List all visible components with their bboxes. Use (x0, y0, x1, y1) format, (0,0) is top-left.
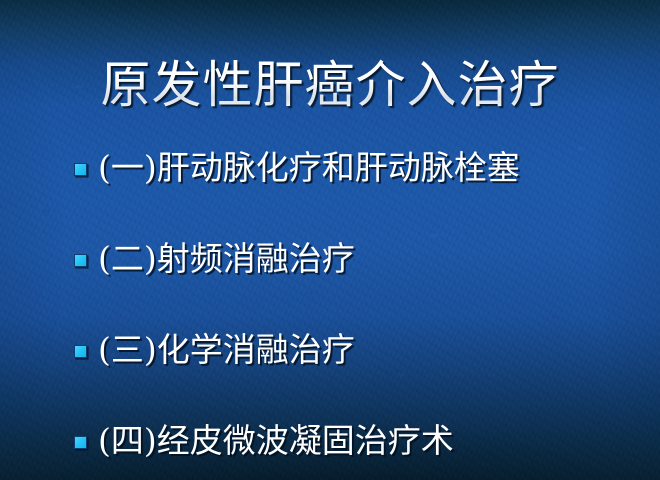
list-item[interactable]: (二)射频消融治疗 (74, 239, 640, 330)
slide-title-container: 原发性肝癌介入治疗 (0, 56, 660, 114)
list-item-label: (一)肝动脉化疗和肝动脉栓塞 (98, 148, 520, 188)
square-bullet-icon (74, 163, 87, 176)
list-item-label: (二)射频消融治疗 (98, 239, 355, 279)
list-item-label: (四)经皮微波凝固治疗术 (98, 421, 454, 461)
list-item[interactable]: (一)肝动脉化疗和肝动脉栓塞 (74, 148, 640, 239)
list-item[interactable]: (四)经皮微波凝固治疗术 (74, 421, 640, 480)
list-item-label: (三)化学消融治疗 (98, 330, 355, 370)
slide-bullet-list: (一)肝动脉化疗和肝动脉栓塞 (二)射频消融治疗 (三)化学消融治疗 (四)经皮… (74, 148, 640, 480)
square-bullet-icon (74, 345, 87, 358)
slide-title: 原发性肝癌介入治疗 (101, 56, 560, 114)
list-item[interactable]: (三)化学消融治疗 (74, 330, 640, 421)
square-bullet-icon (74, 254, 87, 267)
presentation-slide: 原发性肝癌介入治疗 (一)肝动脉化疗和肝动脉栓塞 (二)射频消融治疗 (三)化学… (0, 0, 660, 480)
square-bullet-icon (74, 436, 87, 449)
